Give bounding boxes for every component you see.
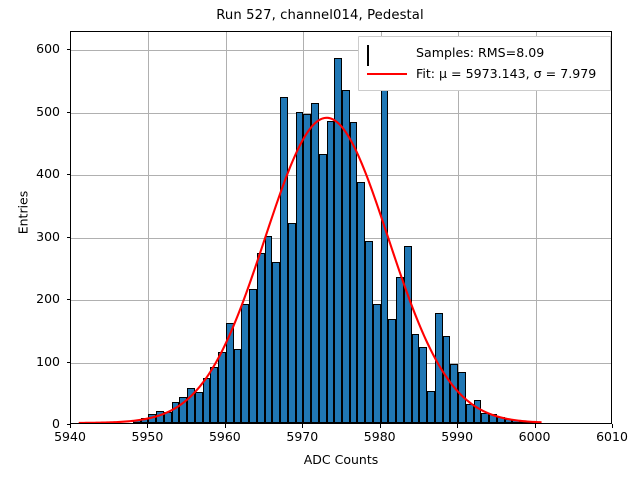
legend-line-icon: [367, 67, 407, 81]
y-tick-mark: [67, 174, 71, 175]
x-tick-mark: [302, 424, 303, 428]
legend-label-samples: Samples: RMS=8.09: [416, 45, 544, 60]
x-tick-mark: [70, 424, 71, 428]
y-tick-label: 100: [0, 354, 60, 369]
y-tick-label: 600: [0, 41, 60, 56]
y-tick-mark: [67, 112, 71, 113]
legend-item-fit: Fit: μ = 5973.143, σ = 7.979: [367, 63, 602, 84]
x-tick-mark: [225, 424, 226, 428]
x-tick-label: 5950: [112, 429, 182, 444]
y-tick-mark: [67, 49, 71, 50]
y-tick-mark: [67, 237, 71, 238]
y-tick-mark: [67, 299, 71, 300]
y-axis-label: Entries: [16, 143, 31, 283]
legend-patch-icon: [367, 46, 407, 60]
x-tick-mark: [612, 424, 613, 428]
x-tick-mark: [380, 424, 381, 428]
legend-label-fit: Fit: μ = 5973.143, σ = 7.979: [416, 66, 596, 81]
x-tick-label: 6010: [577, 429, 640, 444]
x-tick-mark: [147, 424, 148, 428]
x-tick-mark: [457, 424, 458, 428]
chart-title: Run 527, channel014, Pedestal: [0, 8, 640, 23]
y-tick-mark: [67, 362, 71, 363]
legend-item-samples: Samples: RMS=8.09: [367, 42, 602, 63]
y-tick-label: 0: [0, 416, 60, 431]
x-axis-label: ADC Counts: [70, 452, 612, 467]
x-tick-label: 5990: [422, 429, 492, 444]
x-tick-label: 5980: [345, 429, 415, 444]
legend: Samples: RMS=8.09 Fit: μ = 5973.143, σ =…: [358, 36, 611, 91]
x-tick-label: 5940: [35, 429, 105, 444]
y-tick-label: 500: [0, 104, 60, 119]
x-tick-label: 6000: [500, 429, 570, 444]
x-tick-label: 5970: [267, 429, 337, 444]
x-tick-mark: [535, 424, 536, 428]
y-tick-mark: [67, 424, 71, 425]
x-tick-label: 5960: [190, 429, 260, 444]
y-tick-label: 200: [0, 291, 60, 306]
figure-canvas: Run 527, channel014, Pedestal 5940595059…: [0, 0, 640, 480]
